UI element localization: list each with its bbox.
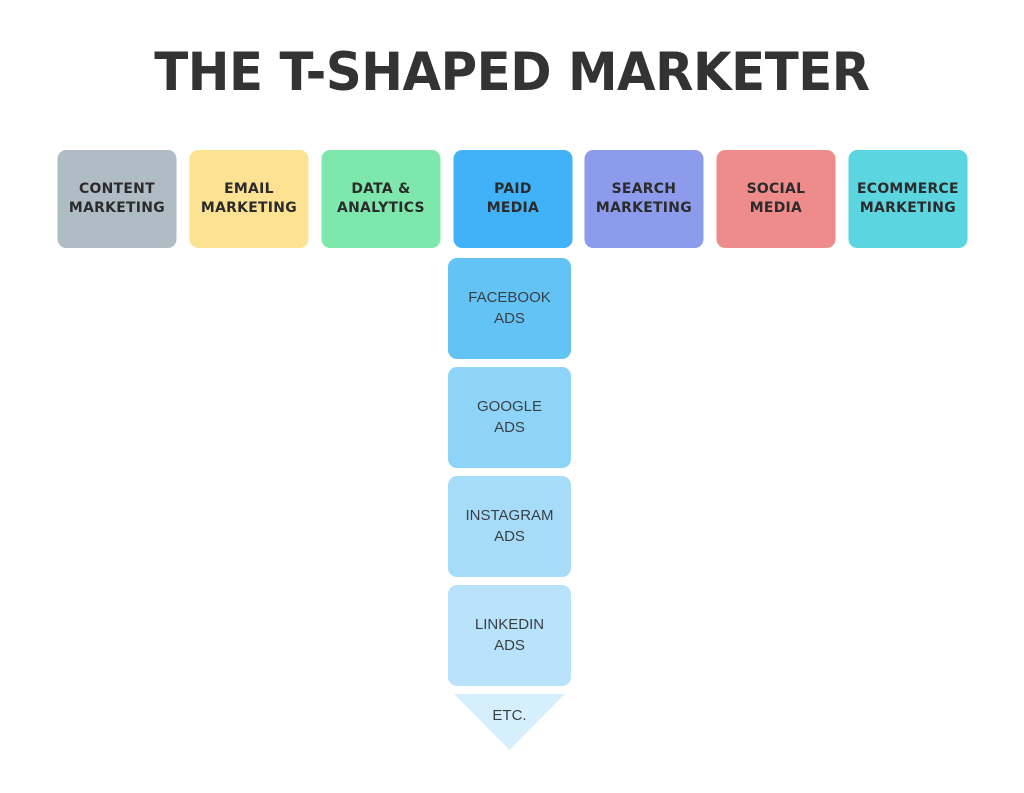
skill-label-line1: ECOMMERCE	[857, 180, 959, 199]
skill-label-line2: MEDIA	[486, 199, 538, 218]
specialization-label-line1: LINKEDIN	[475, 615, 544, 636]
skill-box-search-marketing[interactable]: SEARCH MARKETING	[585, 150, 704, 248]
page-title: THE T-SHAPED MARKETER	[31, 45, 994, 101]
skill-label-line2: MARKETING	[857, 199, 959, 218]
specialization-box-instagram-ads[interactable]: INSTAGRAM ADS	[448, 476, 571, 577]
skill-label-line1: SOCIAL	[747, 180, 806, 199]
etc-label: ETC.	[448, 707, 571, 725]
skill-box-email-marketing[interactable]: EMAIL MARKETING	[189, 150, 308, 248]
skill-label-line2: MARKETING	[596, 199, 692, 218]
specialization-label-line1: GOOGLE	[477, 397, 542, 418]
specialization-box-google-ads[interactable]: GOOGLE ADS	[448, 367, 571, 468]
t-shaped-marketer-infographic: THE T-SHAPED MARKETER CONTENT MARKETING …	[0, 0, 1024, 793]
skill-label-line1: EMAIL	[201, 180, 297, 199]
broad-skills-row: CONTENT MARKETING EMAIL MARKETING DATA &…	[55, 150, 970, 248]
specialization-box-linkedin-ads[interactable]: LINKEDIN ADS	[448, 585, 571, 686]
skill-box-content-marketing[interactable]: CONTENT MARKETING	[57, 150, 176, 248]
skill-label-line1: PAID	[486, 180, 538, 199]
skill-label-line2: MARKETING	[69, 199, 165, 218]
skill-label-line1: CONTENT	[69, 180, 165, 199]
etc-arrow-container[interactable]: ETC.	[448, 694, 571, 750]
specialization-label-line2: ADS	[465, 527, 553, 548]
skill-label-line2: MARKETING	[201, 199, 297, 218]
skill-label-line2: ANALYTICS	[337, 199, 425, 218]
skill-box-data-analytics[interactable]: DATA & ANALYTICS	[321, 150, 440, 248]
skill-box-social-media[interactable]: SOCIAL MEDIA	[717, 150, 836, 248]
specialization-label-line2: ADS	[468, 309, 551, 330]
specialization-label-line1: INSTAGRAM	[465, 506, 553, 527]
skill-label-line1: SEARCH	[596, 180, 692, 199]
skill-label-line2: MEDIA	[747, 199, 806, 218]
specialization-box-facebook-ads[interactable]: FACEBOOK ADS	[448, 258, 571, 359]
specialization-label-line2: ADS	[475, 636, 544, 657]
paid-media-specialization-column: FACEBOOK ADS GOOGLE ADS INSTAGRAM ADS LI…	[448, 258, 571, 750]
specialization-label-line1: FACEBOOK	[468, 288, 551, 309]
skill-label-line1: DATA &	[337, 180, 425, 199]
skill-box-paid-media[interactable]: PAID MEDIA	[453, 150, 572, 248]
specialization-label-line2: ADS	[477, 418, 542, 439]
skill-box-ecommerce-marketing[interactable]: ECOMMERCE MARKETING	[849, 150, 968, 248]
